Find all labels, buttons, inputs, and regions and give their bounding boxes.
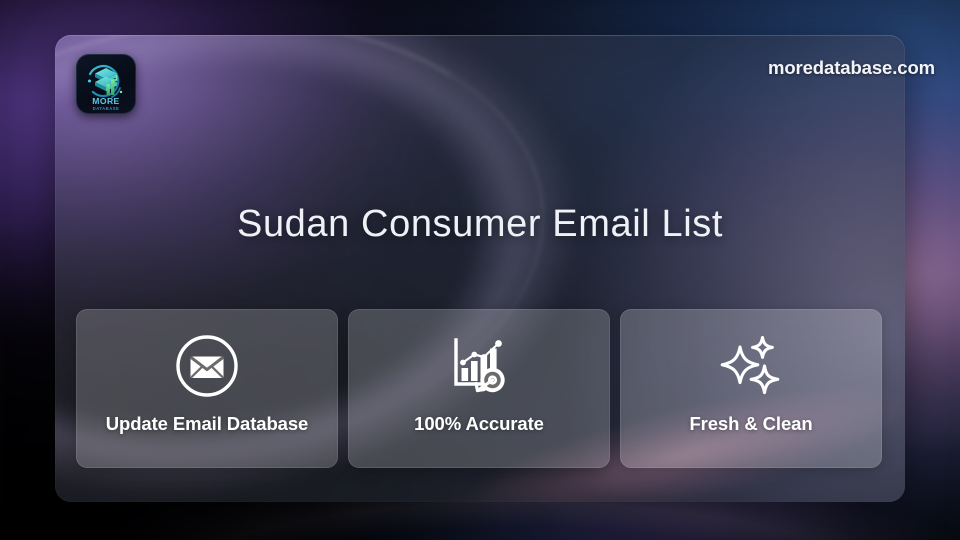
- glass-panel: Sudan Consumer Email List Update Email D…: [55, 35, 905, 502]
- envelope-circle-icon: [174, 333, 240, 399]
- sparkles-icon: [718, 333, 784, 399]
- site-url[interactable]: moredatabase.com: [768, 57, 935, 79]
- brand-logo[interactable]: MORE DATABASE: [76, 54, 136, 114]
- feature-card-update-email-database[interactable]: Update Email Database: [76, 309, 338, 468]
- database-stack-logo-icon: MORE DATABASE: [76, 54, 136, 114]
- feature-card-100-percent-accurate[interactable]: 100% Accurate: [348, 309, 610, 468]
- svg-text:MORE: MORE: [92, 96, 119, 106]
- bar-chart-target-icon: [446, 333, 512, 399]
- feature-label: Fresh & Clean: [689, 413, 812, 435]
- feature-card-fresh-and-clean[interactable]: Fresh & Clean: [620, 309, 882, 468]
- feature-label: Update Email Database: [106, 413, 309, 435]
- svg-text:DATABASE: DATABASE: [93, 106, 120, 111]
- feature-label: 100% Accurate: [414, 413, 544, 435]
- page-title: Sudan Consumer Email List: [55, 203, 905, 246]
- feature-card-row: Update Email Database: [76, 309, 884, 468]
- promo-banner: Sudan Consumer Email List Update Email D…: [0, 0, 960, 540]
